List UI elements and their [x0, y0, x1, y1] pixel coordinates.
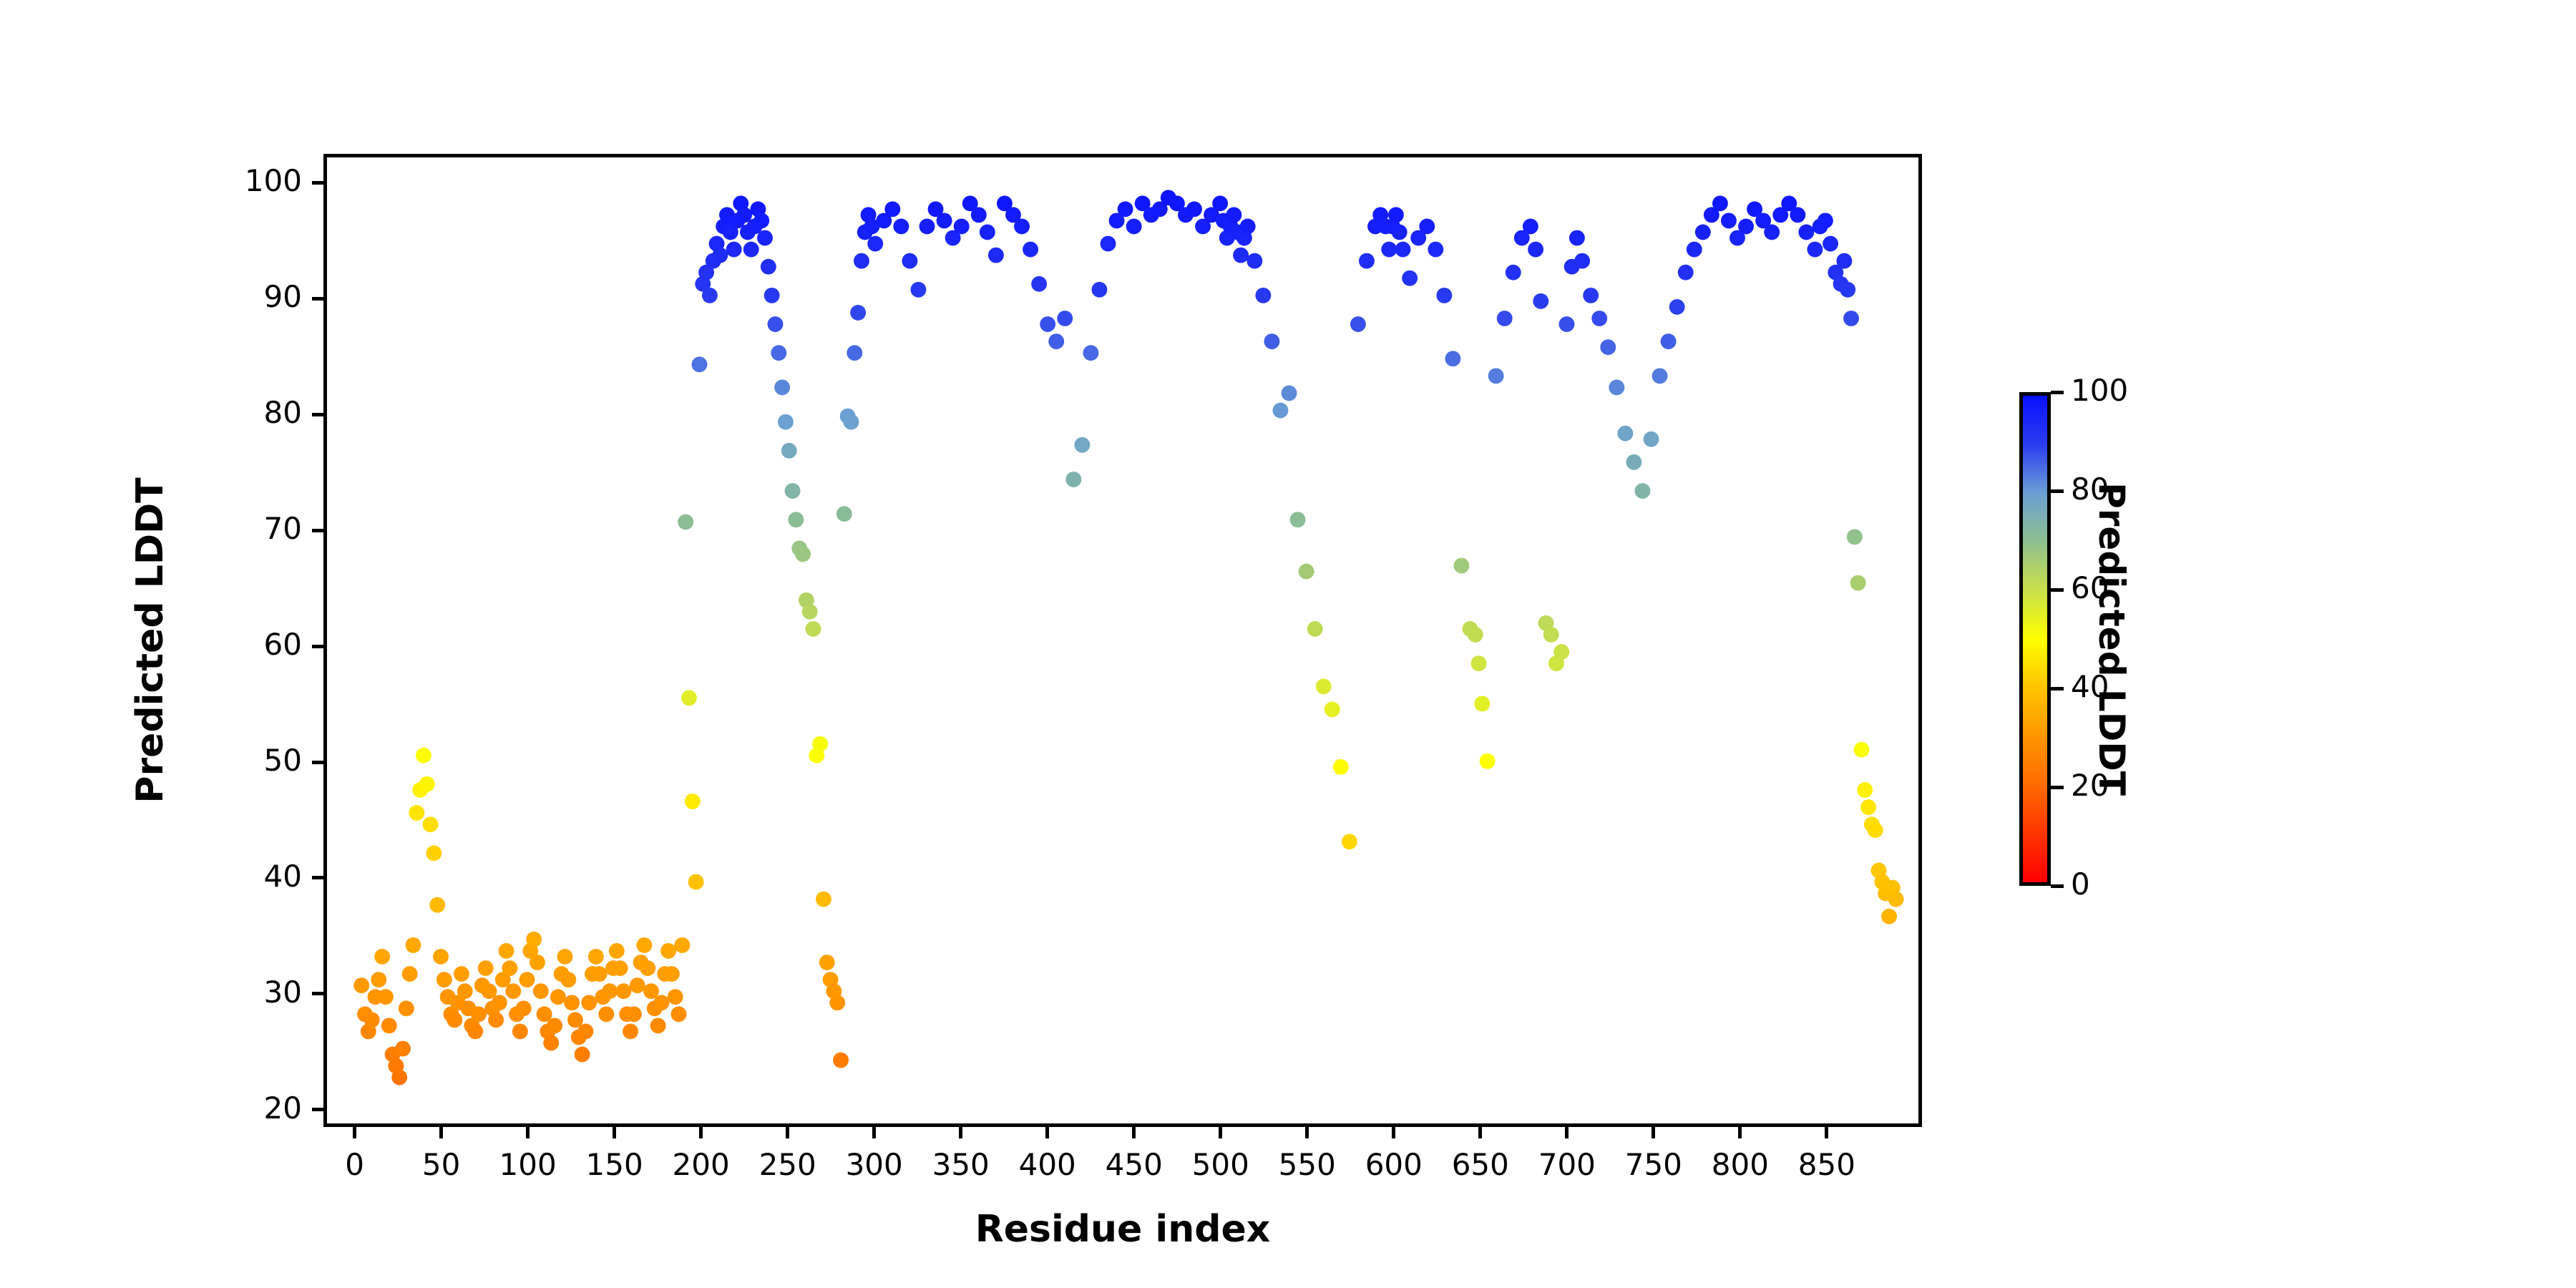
- scatter-point: [702, 288, 718, 303]
- scatter-point: [1299, 564, 1314, 580]
- scatter-point: [829, 995, 845, 1010]
- scatter-point: [416, 748, 431, 763]
- scatter-point: [1868, 822, 1883, 838]
- scatter-point: [1040, 316, 1055, 332]
- scatter-point: [433, 949, 449, 965]
- scatter-point: [1233, 248, 1249, 263]
- scatter-point: [1333, 759, 1349, 775]
- scatter-point: [575, 1047, 590, 1063]
- y-tick-mark: [312, 876, 323, 879]
- scatter-point: [533, 983, 549, 999]
- scatter-point: [1031, 276, 1047, 292]
- scatter-point: [581, 995, 597, 1010]
- scatter-point: [1282, 386, 1297, 401]
- scatter-point: [795, 547, 811, 562]
- x-tick-mark: [1565, 1127, 1568, 1138]
- scatter-point: [764, 288, 780, 303]
- scatter-point: [660, 943, 676, 959]
- scatter-point: [1687, 242, 1702, 258]
- colorbar-gradient: [2023, 396, 2047, 882]
- scatter-point: [1635, 483, 1651, 499]
- scatter-point: [812, 736, 828, 752]
- scatter-point: [353, 977, 369, 993]
- y-tick-mark: [312, 181, 323, 185]
- x-tick-mark: [872, 1127, 876, 1138]
- scatter-point: [1652, 368, 1668, 384]
- y-tick-label: 60: [180, 627, 302, 662]
- y-tick-label: 80: [180, 395, 302, 430]
- scatter-point: [980, 225, 995, 240]
- scatter-point: [1014, 219, 1030, 235]
- scatter-point: [988, 248, 1004, 263]
- scatter-point: [467, 1024, 483, 1040]
- scatter-point: [753, 213, 769, 228]
- y-tick-label: 90: [180, 279, 302, 314]
- scatter-point: [788, 512, 804, 527]
- scatter-point: [557, 949, 573, 965]
- scatter-point: [457, 983, 473, 999]
- scatter-point: [636, 937, 652, 953]
- colorbar-tick-mark: [2051, 391, 2064, 394]
- y-tick-label: 40: [180, 859, 302, 894]
- scatter-point: [395, 1041, 411, 1057]
- scatter-point: [743, 242, 759, 258]
- scatter-point: [1533, 293, 1548, 309]
- scatter-point: [409, 805, 424, 821]
- x-tick-mark: [613, 1127, 616, 1138]
- scatter-point: [1212, 195, 1228, 211]
- scatter-point: [1847, 529, 1863, 545]
- x-tick-mark: [526, 1127, 530, 1138]
- scatter-point: [1083, 345, 1098, 361]
- scatter-point: [426, 845, 441, 861]
- y-axis-label: Predicted LDDT: [129, 154, 189, 1127]
- scatter-point: [560, 972, 576, 987]
- scatter-point: [867, 236, 883, 252]
- scatter-point: [1246, 253, 1262, 269]
- y-tick-mark: [312, 413, 323, 416]
- scatter-point: [854, 253, 869, 269]
- x-tick-label: 850: [1770, 1147, 1884, 1182]
- scatter-point: [374, 949, 390, 965]
- scatter-point: [1569, 230, 1585, 246]
- scatter-point: [1359, 253, 1375, 269]
- scatter-point: [674, 937, 690, 953]
- scatter-point: [761, 259, 776, 275]
- x-tick-mark: [353, 1127, 356, 1138]
- scatter-point: [547, 1018, 562, 1033]
- scatter-point: [1609, 380, 1624, 396]
- scatter-point: [378, 989, 394, 1005]
- scatter-point: [781, 443, 797, 459]
- scatter-point: [429, 897, 445, 913]
- scatter-point: [1316, 678, 1332, 694]
- scatter-point: [937, 213, 952, 228]
- scatter-point: [971, 207, 987, 223]
- scatter-point: [1118, 201, 1133, 217]
- scatter-point: [712, 248, 728, 263]
- scatter-point: [726, 242, 742, 258]
- colorbar-tick-mark: [2051, 588, 2064, 592]
- scatter-point: [1807, 242, 1823, 258]
- scatter-point: [1048, 333, 1064, 349]
- scatter-figure: 2030405060708090100050100150200250300350…: [0, 0, 2576, 1288]
- scatter-point: [1445, 351, 1460, 366]
- scatter-point: [1454, 558, 1470, 574]
- x-tick-mark: [1045, 1127, 1049, 1138]
- scatter-point: [1553, 644, 1569, 660]
- scatter-point: [519, 972, 535, 987]
- y-tick-label: 20: [180, 1091, 302, 1126]
- scatter-point: [1626, 454, 1641, 470]
- scatter-point: [1669, 299, 1685, 315]
- scatter-point: [1436, 288, 1452, 303]
- colorbar-tick-mark: [2051, 884, 2064, 888]
- y-tick-label: 70: [180, 511, 302, 546]
- scatter-point: [499, 943, 514, 959]
- scatter-point: [502, 960, 517, 976]
- scatter-point: [602, 983, 618, 999]
- scatter-point: [1823, 236, 1838, 252]
- scatter-point: [630, 977, 645, 993]
- scatter-point: [1738, 219, 1754, 235]
- scatter-point: [1264, 333, 1279, 349]
- scatter-point: [1402, 270, 1418, 286]
- scatter-point: [902, 253, 917, 269]
- scatter-point: [530, 955, 545, 970]
- scatter-point: [1678, 265, 1694, 280]
- scatter-point: [1419, 219, 1435, 235]
- scatter-point: [1388, 207, 1404, 223]
- scatter-point: [1860, 799, 1876, 815]
- y-tick-mark: [312, 761, 323, 764]
- x-tick-mark: [1305, 1127, 1309, 1138]
- scatter-point: [1661, 333, 1677, 349]
- y-tick-label: 100: [180, 163, 302, 198]
- scatter-point: [1574, 253, 1590, 269]
- scatter-point: [1255, 288, 1271, 303]
- scatter-point: [1798, 225, 1814, 240]
- scatter-point: [1126, 219, 1142, 235]
- scatter-point: [478, 960, 494, 976]
- scatter-point: [381, 1018, 397, 1033]
- scatter-point: [626, 1006, 642, 1022]
- scatter-point: [1523, 219, 1538, 235]
- scatter-point: [1850, 575, 1866, 591]
- scatter-point: [1226, 207, 1241, 223]
- scatter-point: [1528, 242, 1543, 258]
- scatter-point: [488, 1012, 504, 1028]
- y-tick-mark: [312, 297, 323, 301]
- scatter-point: [1065, 472, 1081, 487]
- scatter-point: [371, 972, 386, 987]
- x-tick-mark: [1478, 1127, 1482, 1138]
- x-tick-mark: [959, 1127, 962, 1138]
- scatter-point: [844, 414, 859, 430]
- scatter-point: [1881, 909, 1897, 924]
- scatter-point: [615, 983, 631, 999]
- scatter-point: [668, 989, 683, 1005]
- scatter-point: [819, 955, 835, 970]
- scatter-point: [1023, 242, 1038, 258]
- scatter-point: [1506, 265, 1521, 280]
- scatter-point: [1617, 426, 1633, 441]
- scatter-point: [893, 219, 909, 235]
- scatter-point: [1092, 282, 1108, 298]
- scatter-point: [609, 943, 625, 959]
- scatter-point: [1583, 288, 1599, 303]
- scatter-point: [1857, 782, 1873, 798]
- scatter-point: [919, 219, 935, 235]
- scatter-point: [505, 983, 521, 999]
- scatter-point: [1644, 431, 1659, 447]
- y-tick-mark: [312, 645, 323, 648]
- scatter-point: [1186, 201, 1202, 217]
- figure-canvas: 2030405060708090100050100150200250300350…: [0, 0, 2576, 1288]
- scatter-point: [512, 1024, 528, 1040]
- x-tick-mark: [439, 1127, 443, 1138]
- scatter-point: [836, 506, 852, 522]
- scatter-point: [526, 932, 542, 947]
- x-tick-mark: [1825, 1127, 1828, 1138]
- scatter-point: [399, 1000, 414, 1016]
- scatter-point: [1273, 403, 1289, 419]
- scatter-point: [406, 937, 421, 953]
- y-tick-mark: [312, 529, 323, 532]
- colorbar-title: Predicted LDDT: [2082, 392, 2132, 886]
- scatter-point: [1790, 207, 1805, 223]
- scatter-point: [454, 966, 469, 982]
- scatter-point: [543, 1035, 559, 1051]
- scatter-point: [1721, 213, 1737, 228]
- scatter-point: [774, 380, 790, 396]
- scatter-point: [678, 514, 693, 530]
- scatter-point: [391, 1070, 407, 1085]
- scatter-point: [1342, 834, 1357, 849]
- scatter-point: [1324, 702, 1340, 718]
- scatter-point: [1381, 242, 1397, 258]
- scatter-point: [1840, 282, 1855, 298]
- scatter-point: [1468, 627, 1483, 643]
- scatter-point: [1240, 219, 1256, 235]
- scatter-point: [1818, 213, 1833, 228]
- scatter-point: [802, 604, 818, 620]
- x-tick-mark: [1738, 1127, 1742, 1138]
- scatter-point: [664, 966, 680, 982]
- scatter-point: [592, 966, 608, 982]
- colorbar-tick-mark: [2051, 786, 2064, 789]
- scatter-point: [1474, 696, 1490, 711]
- scatter-point: [1591, 311, 1607, 326]
- scatter-point: [588, 949, 604, 965]
- scatter-point: [785, 483, 801, 499]
- scatter-point: [1395, 242, 1411, 258]
- scatter-point: [1290, 512, 1306, 527]
- scatter-point: [850, 305, 866, 321]
- scatter-point: [550, 989, 566, 1005]
- scatter-point: [447, 1012, 462, 1028]
- scatter-point: [436, 972, 452, 987]
- plot-area: [323, 154, 1922, 1127]
- scatter-point: [1888, 892, 1904, 907]
- y-tick-label: 50: [180, 743, 302, 778]
- scatter-point: [613, 960, 628, 976]
- scatter-point: [1836, 253, 1852, 269]
- scatter-point: [685, 794, 701, 809]
- scatter-point: [653, 995, 669, 1010]
- scatter-point: [1392, 225, 1407, 240]
- x-axis-label: Residue index: [323, 1208, 1922, 1251]
- scatter-point: [423, 816, 439, 832]
- y-tick-mark: [312, 1108, 323, 1111]
- x-tick-mark: [1652, 1127, 1655, 1138]
- scatter-point: [492, 995, 507, 1010]
- scatter-point: [1764, 225, 1780, 240]
- x-tick-mark: [786, 1127, 789, 1138]
- scatter-point: [1101, 236, 1116, 252]
- colorbar-tick-mark: [2051, 489, 2064, 493]
- scatter-point: [911, 282, 927, 298]
- scatter-point: [1488, 368, 1504, 384]
- scatter-point: [650, 1018, 666, 1033]
- scatter-point: [623, 1024, 638, 1040]
- scatter-point: [688, 874, 704, 890]
- scatter-point: [778, 414, 794, 430]
- scatter-point: [1695, 225, 1711, 240]
- x-tick-mark: [1132, 1127, 1136, 1138]
- scatter-point: [1558, 316, 1574, 332]
- x-tick-mark: [699, 1127, 703, 1138]
- scatter-point: [471, 1006, 487, 1022]
- scatter-point: [1712, 195, 1728, 211]
- scatter-point: [671, 1006, 687, 1022]
- scatter-point: [1543, 627, 1559, 643]
- scatter-point: [1600, 339, 1616, 355]
- scatter-point: [771, 345, 786, 361]
- scatter-point: [516, 1000, 532, 1016]
- y-tick-mark: [312, 992, 323, 995]
- scatter-point: [419, 776, 435, 792]
- scatter-point: [577, 1024, 593, 1040]
- scatter-point: [364, 1012, 380, 1028]
- x-tick-mark: [1392, 1127, 1395, 1138]
- scatter-point: [816, 892, 831, 907]
- scatter-point: [598, 1006, 614, 1022]
- scatter-point: [681, 690, 697, 706]
- x-tick-mark: [1219, 1127, 1222, 1138]
- scatter-point: [1497, 311, 1513, 326]
- scatter-point: [1480, 753, 1496, 769]
- scatter-point: [847, 345, 862, 361]
- colorbar-tick-mark: [2051, 687, 2064, 691]
- colorbar-gradient-frame: [2019, 392, 2051, 886]
- y-tick-label: 30: [180, 975, 302, 1010]
- scatter-point: [806, 621, 821, 637]
- scatter-point: [1854, 742, 1870, 758]
- scatter-point: [768, 316, 784, 332]
- scatter-point: [1843, 311, 1859, 326]
- scatter-point: [564, 995, 580, 1010]
- scatter-point: [1428, 242, 1443, 258]
- scatter-point: [1307, 621, 1323, 637]
- colorbar: [2019, 392, 2051, 886]
- scatter-point: [1471, 655, 1487, 671]
- scatter-point: [833, 1053, 849, 1068]
- scatter-point: [692, 356, 708, 372]
- scatter-point: [402, 966, 418, 982]
- scatter-point: [884, 201, 900, 217]
- scatter-point: [954, 219, 970, 235]
- scatter-point: [1074, 437, 1090, 453]
- scatter-point: [1057, 311, 1073, 326]
- scatter-points-layer: [327, 157, 1918, 1123]
- scatter-point: [757, 230, 773, 246]
- scatter-point: [1350, 316, 1366, 332]
- scatter-point: [640, 960, 655, 976]
